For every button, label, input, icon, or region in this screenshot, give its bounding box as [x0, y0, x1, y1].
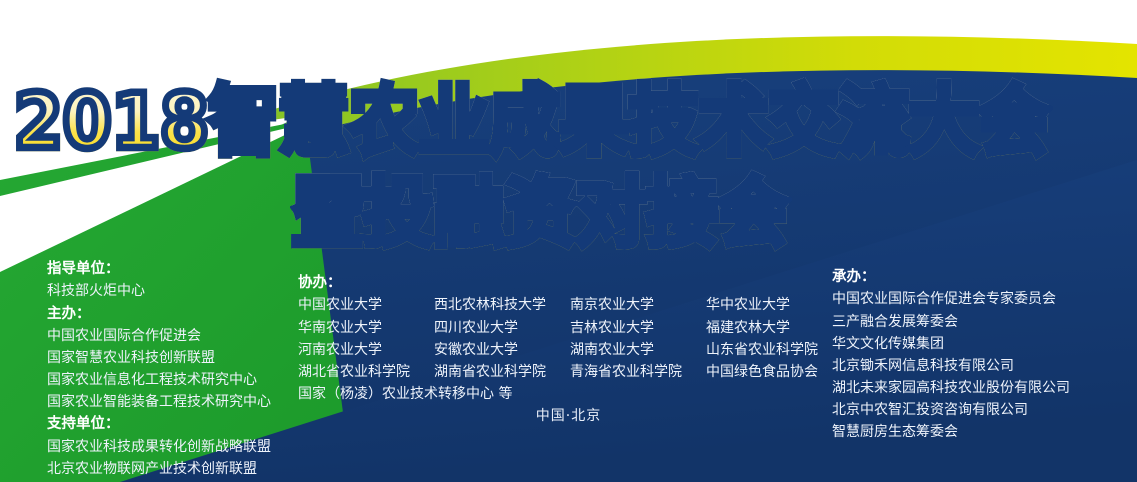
co-organizer-grid: 中国农业大学 西北农林科技大学 南京农业大学 华中农业大学 华南农业大学 四川农… [298, 294, 824, 382]
host-item: 三产融合发展筹委会 [832, 311, 1132, 333]
co-organizer-item: 西北农林科技大学 [434, 294, 570, 316]
co-organizer-item: 安徽农业大学 [434, 339, 570, 361]
host-item: 北京锄禾网信息科技有限公司 [832, 355, 1132, 377]
co-organizer-item: 福建农林大学 [706, 317, 824, 339]
co-organizer-item: 湖南省农业科学院 [434, 361, 570, 383]
co-organizer-item: 华南农业大学 [298, 317, 434, 339]
co-organizer-item: 山东省农业科学院 [706, 339, 824, 361]
supporter-item: 国家农业科技成果转化创新战略联盟 [47, 436, 347, 458]
co-organizer-item: 中国农业大学 [298, 294, 434, 316]
host-header: 承办： [832, 266, 1132, 288]
co-organizer-item: 中国绿色食品协会 [706, 361, 824, 383]
city-line: 中国·北京 [0, 405, 1137, 425]
co-organizer-item: 四川农业大学 [434, 317, 570, 339]
host-item: 中国农业国际合作促进会专家委员会 [832, 288, 1132, 310]
co-organizer-item: 南京农业大学 [570, 294, 706, 316]
co-organizer-item: 河南农业大学 [298, 339, 434, 361]
co-organizer-header: 协办： [298, 272, 824, 294]
host-item: 华文文化传媒集团 [832, 333, 1132, 355]
supporter-item: 北京农业物联网产业技术创新联盟 [47, 458, 347, 480]
co-organizer-last-line: 国家（杨凌）农业技术转移中心 等 [298, 383, 824, 405]
co-organizer-column: 协办： 中国农业大学 西北农林科技大学 南京农业大学 华中农业大学 华南农业大学… [298, 272, 824, 405]
co-organizer-item: 湖南农业大学 [570, 339, 706, 361]
conference-banner: 2018智慧农业成果技术交流大会 暨投融资对接会 指导单位： 科技部火炬中心 主… [0, 0, 1137, 482]
co-organizer-item: 湖北省农业科学院 [298, 361, 434, 383]
host-item: 湖北未来家园高科技农业股份有限公司 [832, 377, 1132, 399]
co-organizer-item: 青海省农业科学院 [570, 361, 706, 383]
co-organizer-item: 吉林农业大学 [570, 317, 706, 339]
co-organizer-item: 华中农业大学 [706, 294, 824, 316]
